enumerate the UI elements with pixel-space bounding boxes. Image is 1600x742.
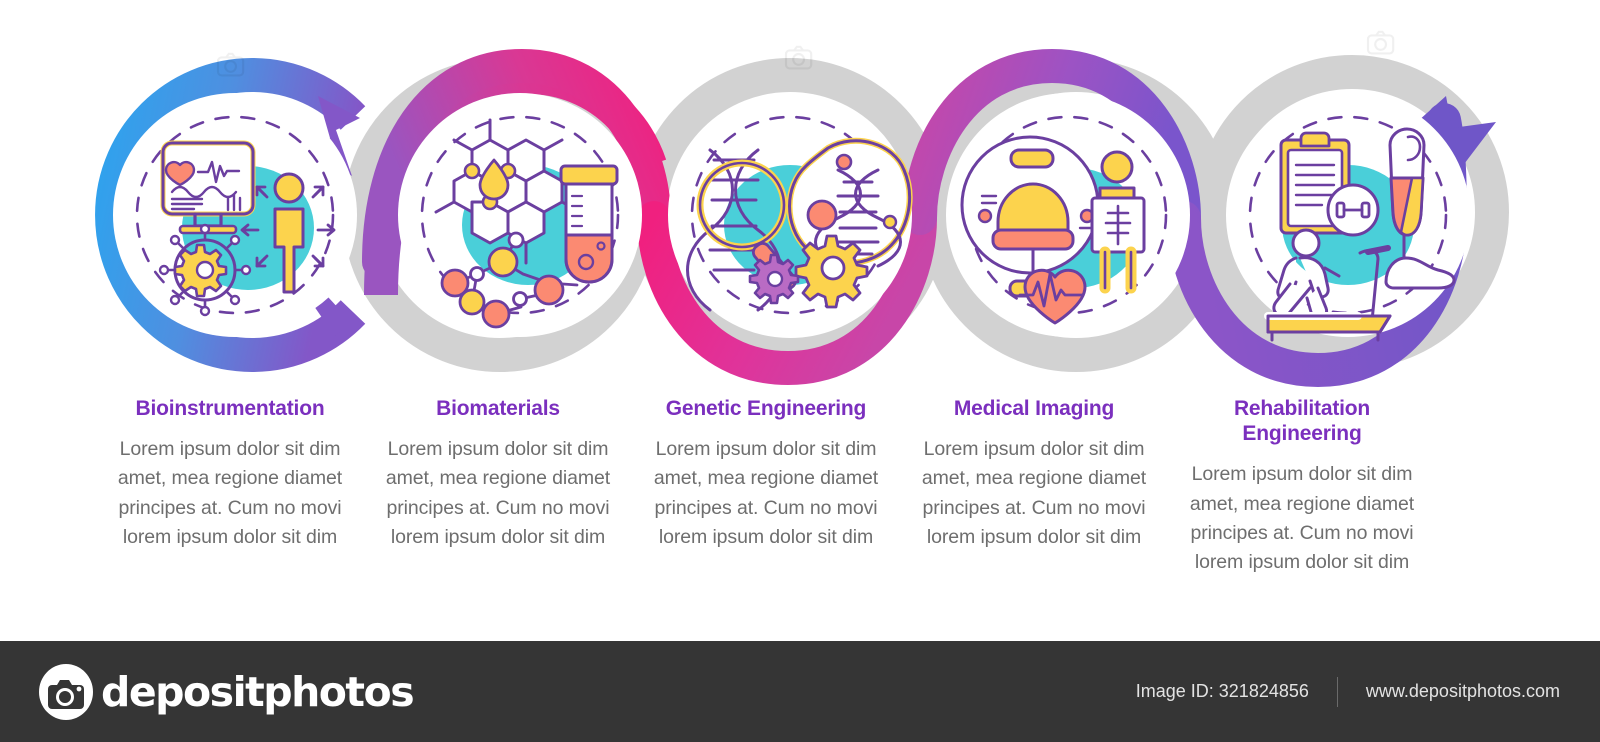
step-column-3: Genetic Engineering Lorem ipsum dolor si…	[632, 396, 900, 636]
step-body-1: Lorem ipsum dolor sit dim amet, mea regi…	[108, 435, 352, 552]
step-title-5: Rehabilitation Engineering	[1180, 396, 1424, 446]
footer-website[interactable]: www.depositphotos.com	[1366, 681, 1560, 702]
step-text-columns: Bioinstrumentation Lorem ipsum dolor sit…	[0, 396, 1600, 636]
step-body-3: Lorem ipsum dolor sit dim amet, mea regi…	[644, 435, 888, 552]
step-body-2: Lorem ipsum dolor sit dim amet, mea regi…	[376, 435, 620, 552]
footer-brand-text: depositphotos	[101, 668, 413, 716]
test-tube-icon	[561, 166, 617, 282]
watermark-glyphs	[218, 32, 1393, 76]
step-body-5: Lorem ipsum dolor sit dim amet, mea regi…	[1180, 460, 1424, 577]
process-ribbon-graphic	[0, 0, 1600, 400]
step-column-1: Bioinstrumentation Lorem ipsum dolor sit…	[96, 396, 364, 636]
camera-icon	[38, 663, 94, 721]
step-body-4: Lorem ipsum dolor sit dim amet, mea regi…	[912, 435, 1156, 552]
footer-logo[interactable]: depositphotos	[38, 663, 413, 721]
step-column-2: Biomaterials Lorem ipsum dolor sit dim a…	[364, 396, 632, 636]
footer-image-id: Image ID: 321824856	[1136, 681, 1309, 702]
footer-bar: depositphotos Image ID: 321824856 www.de…	[0, 641, 1600, 742]
footer-divider	[1337, 677, 1338, 707]
infographic-page: Bioinstrumentation Lorem ipsum dolor sit…	[0, 0, 1600, 742]
step-title-1: Bioinstrumentation	[108, 396, 352, 421]
step-title-4: Medical Imaging	[912, 396, 1156, 421]
step-column-4: Medical Imaging Lorem ipsum dolor sit di…	[900, 396, 1168, 636]
footer-meta: Image ID: 321824856 www.depositphotos.co…	[1136, 677, 1560, 707]
step-title-3: Genetic Engineering	[644, 396, 888, 421]
step-column-5: Rehabilitation Engineering Lorem ipsum d…	[1168, 396, 1436, 636]
step-title-2: Biomaterials	[376, 396, 620, 421]
